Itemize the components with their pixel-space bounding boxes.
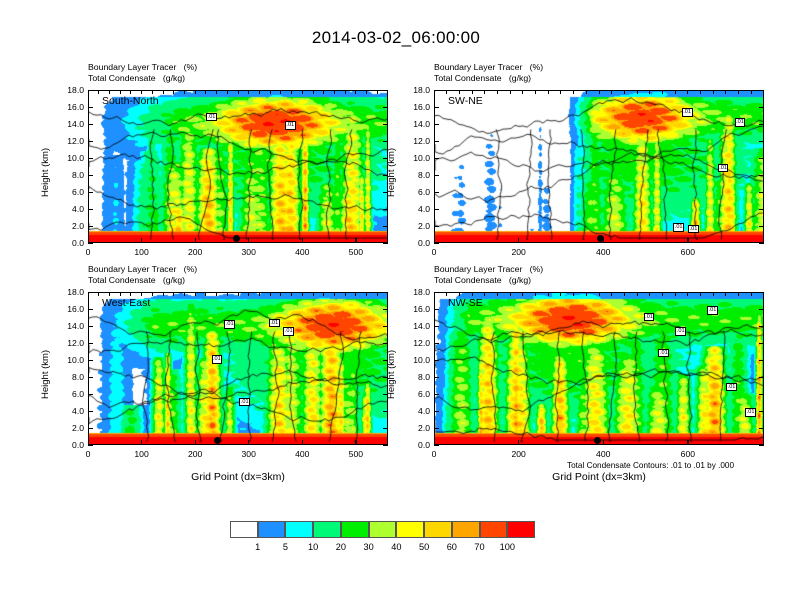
- x-minor-tick: [173, 292, 174, 296]
- y-tick-label: 14.0: [402, 321, 430, 331]
- panel-header-bottom-right: Boundary Layer Tracer (%)Total Condensat…: [434, 264, 543, 286]
- y-tick-mark: [759, 158, 764, 159]
- x-minor-tick: [302, 90, 303, 94]
- y-tick-label: 8.0: [402, 170, 430, 180]
- y-tick-mark: [383, 107, 388, 108]
- contour-label: .01: [735, 118, 746, 127]
- x-minor-tick: [227, 90, 228, 94]
- y-tick-mark: [759, 175, 764, 176]
- contour-label: .01: [718, 164, 729, 173]
- y-tick-mark: [88, 394, 93, 395]
- y-tick-mark: [759, 209, 764, 210]
- y-tick-mark: [383, 326, 388, 327]
- colorbar-cell: [452, 521, 480, 538]
- y-tick-mark: [88, 428, 93, 429]
- contour-label: .01: [283, 327, 294, 336]
- x-minor-tick: [238, 90, 239, 94]
- y-tick-mark: [383, 343, 388, 344]
- header-line-condensate: Total Condensate (g/kg): [434, 275, 543, 286]
- x-minor-tick: [446, 292, 447, 296]
- x-minor-tick: [120, 292, 121, 296]
- header-line-tracer: Boundary Layer Tracer (%): [434, 264, 543, 275]
- plot-area-sw-ne: .01.01.01.01.01: [434, 90, 764, 243]
- y-tick-label: 16.0: [402, 102, 430, 112]
- contour-label: .01: [644, 313, 655, 322]
- x-minor-tick: [291, 90, 292, 94]
- x-minor-tick: [355, 292, 356, 296]
- y-tick-mark: [383, 445, 388, 446]
- header-line-condensate: Total Condensate (g/kg): [88, 275, 197, 286]
- x-axis-label: Grid Point (dx=3km): [88, 471, 388, 483]
- x-minor-tick: [624, 90, 625, 94]
- x-minor-tick: [227, 292, 228, 296]
- y-tick-mark: [759, 107, 764, 108]
- x-tick-label: 0: [416, 449, 452, 459]
- x-minor-tick: [522, 292, 523, 296]
- x-minor-tick: [98, 90, 99, 94]
- x-minor-tick: [259, 292, 260, 296]
- y-tick-mark: [759, 309, 764, 310]
- colorbar-cell: [396, 521, 424, 538]
- y-tick-mark: [88, 360, 93, 361]
- y-tick-mark: [434, 124, 439, 125]
- x-tick-label: 200: [501, 247, 537, 257]
- x-minor-tick: [599, 292, 600, 296]
- x-minor-tick: [662, 90, 663, 94]
- x-minor-tick: [141, 90, 142, 94]
- x-minor-tick: [751, 292, 752, 296]
- x-minor-tick: [560, 90, 561, 94]
- x-minor-tick: [334, 292, 335, 296]
- y-tick-label: 10.0: [56, 153, 84, 163]
- y-tick-mark: [383, 292, 388, 293]
- x-minor-tick: [548, 90, 549, 94]
- y-tick-mark: [383, 124, 388, 125]
- y-tick-label: 8.0: [56, 372, 84, 382]
- contour-label: .01: [745, 408, 756, 417]
- y-tick-mark: [759, 141, 764, 142]
- x-minor-tick: [548, 292, 549, 296]
- y-tick-mark: [434, 394, 439, 395]
- x-tick-mark: [518, 238, 519, 243]
- x-minor-tick: [649, 90, 650, 94]
- y-tick-mark: [434, 90, 439, 91]
- plot-area-west-east: .01.01.01.01.01: [88, 292, 388, 445]
- x-minor-tick: [725, 292, 726, 296]
- y-tick-mark: [759, 343, 764, 344]
- x-tick-label: 400: [284, 247, 320, 257]
- colorbar-cell: [424, 521, 452, 538]
- y-tick-mark: [383, 141, 388, 142]
- y-tick-label: 8.0: [56, 170, 84, 180]
- x-tick-mark: [195, 238, 196, 243]
- x-tick-label: 200: [177, 247, 213, 257]
- x-minor-tick: [510, 292, 511, 296]
- x-tick-label: 400: [585, 449, 621, 459]
- panel-header-bottom-left: Boundary Layer Tracer (%)Total Condensat…: [88, 264, 197, 286]
- contour-field: .01.01.01.01.01: [89, 293, 387, 444]
- x-tick-label: 500: [338, 449, 374, 459]
- x-minor-tick: [675, 90, 676, 94]
- x-tick-mark: [355, 440, 356, 445]
- x-minor-tick: [573, 90, 574, 94]
- y-tick-mark: [383, 428, 388, 429]
- x-axis-label: Grid Point (dx=3km): [434, 471, 764, 483]
- x-minor-tick: [713, 292, 714, 296]
- x-minor-tick: [109, 292, 110, 296]
- y-tick-label: 6.0: [402, 389, 430, 399]
- x-tick-label: 400: [284, 449, 320, 459]
- y-tick-mark: [434, 309, 439, 310]
- x-minor-tick: [238, 292, 239, 296]
- y-tick-label: 6.0: [56, 389, 84, 399]
- y-tick-mark: [759, 445, 764, 446]
- y-tick-mark: [759, 124, 764, 125]
- x-minor-tick: [649, 292, 650, 296]
- x-minor-tick: [725, 90, 726, 94]
- contour-spec-footnote: Total Condensate Contours: .01 to .01 by…: [567, 461, 734, 470]
- contour-field: .01.01.01.01.01: [435, 91, 763, 242]
- y-tick-label: 2.0: [56, 423, 84, 433]
- panel-title-sw-ne: SW-NE: [448, 95, 483, 107]
- y-tick-label: 10.0: [402, 153, 430, 163]
- x-minor-tick: [700, 292, 701, 296]
- x-minor-tick: [355, 90, 356, 94]
- contour-label: .01: [675, 327, 686, 336]
- y-tick-mark: [759, 360, 764, 361]
- x-tick-mark: [355, 238, 356, 243]
- colorbar-cell: [341, 521, 369, 538]
- panel-title-south-north: South-North: [102, 95, 159, 107]
- y-tick-label: 4.0: [402, 406, 430, 416]
- x-minor-tick: [611, 292, 612, 296]
- x-minor-tick: [687, 292, 688, 296]
- y-tick-mark: [88, 377, 93, 378]
- y-tick-label: 2.0: [56, 221, 84, 231]
- y-tick-mark: [759, 326, 764, 327]
- y-tick-mark: [434, 107, 439, 108]
- y-tick-mark: [434, 411, 439, 412]
- y-tick-label: 6.0: [402, 187, 430, 197]
- x-minor-tick: [700, 90, 701, 94]
- contour-label: .01: [726, 383, 737, 392]
- y-tick-mark: [434, 377, 439, 378]
- x-minor-tick: [259, 90, 260, 94]
- y-tick-mark: [88, 243, 93, 244]
- header-line-tracer: Boundary Layer Tracer (%): [88, 264, 197, 275]
- y-tick-label: 6.0: [56, 187, 84, 197]
- x-tick-label: 200: [177, 449, 213, 459]
- y-tick-label: 8.0: [402, 372, 430, 382]
- x-tick-label: 600: [670, 449, 706, 459]
- y-tick-mark: [434, 243, 439, 244]
- colorbar-cell: [480, 521, 508, 538]
- x-minor-tick: [313, 292, 314, 296]
- x-minor-tick: [637, 90, 638, 94]
- x-tick-label: 300: [231, 247, 267, 257]
- y-tick-label: 2.0: [402, 423, 430, 433]
- y-tick-label: 16.0: [402, 304, 430, 314]
- colorbar-cell: [369, 521, 397, 538]
- y-tick-mark: [434, 292, 439, 293]
- colorbar-cell: [285, 521, 313, 538]
- x-minor-tick: [291, 292, 292, 296]
- x-minor-tick: [484, 292, 485, 296]
- panel-header-top-right: Boundary Layer Tracer (%)Total Condensat…: [434, 62, 543, 84]
- contour-field: .01.01: [89, 91, 387, 242]
- y-tick-mark: [88, 445, 93, 446]
- x-minor-tick: [248, 90, 249, 94]
- x-minor-tick: [738, 292, 739, 296]
- y-tick-label: 4.0: [402, 204, 430, 214]
- y-axis-label: Height (km): [40, 349, 51, 398]
- plot-area-south-north: .01.01: [88, 90, 388, 243]
- contour-label: .01: [658, 349, 669, 358]
- x-minor-tick: [205, 90, 206, 94]
- y-tick-mark: [383, 309, 388, 310]
- x-tick-label: 600: [670, 247, 706, 257]
- x-tick-mark: [141, 440, 142, 445]
- station-marker: [233, 235, 240, 242]
- x-minor-tick: [248, 292, 249, 296]
- x-minor-tick: [216, 292, 217, 296]
- x-minor-tick: [586, 90, 587, 94]
- y-tick-mark: [759, 226, 764, 227]
- x-minor-tick: [459, 90, 460, 94]
- x-tick-mark: [518, 440, 519, 445]
- x-minor-tick: [195, 292, 196, 296]
- y-axis-label: Height (km): [40, 147, 51, 196]
- y-tick-mark: [383, 226, 388, 227]
- x-minor-tick: [637, 292, 638, 296]
- x-tick-label: 0: [416, 247, 452, 257]
- y-tick-label: 10.0: [402, 355, 430, 365]
- x-tick-label: 100: [124, 247, 160, 257]
- x-minor-tick: [687, 90, 688, 94]
- x-minor-tick: [535, 90, 536, 94]
- panel-title-nw-se: NW-SE: [448, 297, 483, 309]
- x-minor-tick: [184, 90, 185, 94]
- y-tick-mark: [88, 292, 93, 293]
- y-tick-label: 12.0: [56, 136, 84, 146]
- x-minor-tick: [510, 90, 511, 94]
- x-minor-tick: [446, 90, 447, 94]
- header-line-tracer: Boundary Layer Tracer (%): [88, 62, 197, 73]
- contour-label: .01: [285, 121, 296, 130]
- y-tick-mark: [88, 411, 93, 412]
- x-minor-tick: [130, 90, 131, 94]
- x-minor-tick: [675, 292, 676, 296]
- x-minor-tick: [184, 292, 185, 296]
- y-tick-label: 14.0: [56, 321, 84, 331]
- x-minor-tick: [323, 90, 324, 94]
- y-tick-mark: [434, 428, 439, 429]
- x-minor-tick: [152, 90, 153, 94]
- y-tick-mark: [759, 394, 764, 395]
- x-minor-tick: [497, 292, 498, 296]
- x-minor-tick: [130, 292, 131, 296]
- x-minor-tick: [366, 90, 367, 94]
- y-tick-mark: [88, 309, 93, 310]
- x-minor-tick: [313, 90, 314, 94]
- x-tick-mark: [195, 440, 196, 445]
- y-tick-mark: [759, 411, 764, 412]
- contour-label: .01: [269, 319, 280, 328]
- x-tick-mark: [603, 440, 604, 445]
- y-tick-label: 18.0: [402, 85, 430, 95]
- y-tick-label: 16.0: [56, 102, 84, 112]
- y-tick-mark: [88, 90, 93, 91]
- x-tick-label: 500: [338, 247, 374, 257]
- y-tick-mark: [434, 175, 439, 176]
- contour-label: .01: [707, 306, 718, 315]
- x-minor-tick: [141, 292, 142, 296]
- x-minor-tick: [334, 90, 335, 94]
- x-minor-tick: [216, 90, 217, 94]
- y-tick-mark: [88, 192, 93, 193]
- y-tick-mark: [434, 209, 439, 210]
- y-tick-mark: [434, 192, 439, 193]
- y-tick-label: 16.0: [56, 304, 84, 314]
- colorbar: [230, 521, 535, 538]
- x-minor-tick: [738, 90, 739, 94]
- y-tick-label: 14.0: [402, 119, 430, 129]
- tracer-raster: [89, 91, 387, 242]
- page-title: 2014-03-02_06:00:00: [0, 28, 792, 48]
- x-minor-tick: [195, 90, 196, 94]
- contour-label: .01: [206, 113, 217, 122]
- y-tick-label: 18.0: [56, 287, 84, 297]
- y-tick-mark: [759, 292, 764, 293]
- station-marker: [597, 235, 604, 242]
- x-minor-tick: [366, 292, 367, 296]
- x-tick-mark: [88, 238, 89, 243]
- x-minor-tick: [280, 292, 281, 296]
- contour-field: .01.01.01.01.01.01: [435, 293, 763, 444]
- x-tick-label: 0: [70, 449, 106, 459]
- x-tick-label: 0: [70, 247, 106, 257]
- contour-label: .01: [682, 108, 693, 117]
- tracer-raster: [435, 293, 763, 444]
- y-tick-label: 4.0: [56, 406, 84, 416]
- x-minor-tick: [345, 292, 346, 296]
- y-tick-mark: [88, 343, 93, 344]
- x-tick-label: 400: [585, 247, 621, 257]
- y-tick-mark: [434, 141, 439, 142]
- x-minor-tick: [377, 292, 378, 296]
- y-tick-mark: [759, 243, 764, 244]
- y-tick-label: 18.0: [56, 85, 84, 95]
- x-minor-tick: [560, 292, 561, 296]
- y-axis-label: Height (km): [386, 349, 397, 398]
- colorbar-cell: [230, 521, 258, 538]
- x-minor-tick: [624, 292, 625, 296]
- contour-label: .01: [212, 355, 223, 364]
- x-minor-tick: [109, 90, 110, 94]
- header-line-condensate: Total Condensate (g/kg): [434, 73, 543, 84]
- x-minor-tick: [163, 292, 164, 296]
- y-tick-mark: [383, 209, 388, 210]
- x-minor-tick: [586, 292, 587, 296]
- x-minor-tick: [573, 292, 574, 296]
- colorbar-cell: [507, 521, 535, 538]
- y-tick-mark: [88, 326, 93, 327]
- x-tick-mark: [434, 440, 435, 445]
- y-tick-mark: [759, 90, 764, 91]
- y-tick-label: 14.0: [56, 119, 84, 129]
- y-tick-mark: [88, 226, 93, 227]
- x-minor-tick: [302, 292, 303, 296]
- y-tick-label: 12.0: [402, 136, 430, 146]
- y-tick-mark: [383, 411, 388, 412]
- y-tick-label: 12.0: [56, 338, 84, 348]
- x-tick-mark: [687, 238, 688, 243]
- panel-header-top-left: Boundary Layer Tracer (%)Total Condensat…: [88, 62, 197, 84]
- y-tick-label: 2.0: [402, 221, 430, 231]
- x-tick-mark: [248, 238, 249, 243]
- contour-label: .01: [239, 398, 250, 407]
- x-tick-label: 300: [231, 449, 267, 459]
- x-minor-tick: [459, 292, 460, 296]
- contour-label: .01: [673, 223, 684, 232]
- header-line-condensate: Total Condensate (g/kg): [88, 73, 197, 84]
- contour-label: .01: [688, 225, 699, 234]
- y-tick-mark: [88, 124, 93, 125]
- plot-area-nw-se: .01.01.01.01.01.01: [434, 292, 764, 445]
- y-tick-mark: [88, 175, 93, 176]
- x-minor-tick: [522, 90, 523, 94]
- tracer-raster: [89, 293, 387, 444]
- y-tick-label: 10.0: [56, 355, 84, 365]
- x-minor-tick: [152, 292, 153, 296]
- y-tick-mark: [88, 141, 93, 142]
- x-tick-mark: [302, 238, 303, 243]
- y-tick-mark: [759, 192, 764, 193]
- y-tick-label: 18.0: [402, 287, 430, 297]
- x-tick-mark: [434, 238, 435, 243]
- colorbar-cell: [258, 521, 286, 538]
- y-tick-mark: [434, 226, 439, 227]
- y-tick-label: 12.0: [402, 338, 430, 348]
- y-tick-mark: [434, 158, 439, 159]
- x-minor-tick: [713, 90, 714, 94]
- panel-title-west-east: West-East: [102, 297, 150, 309]
- x-minor-tick: [98, 292, 99, 296]
- x-tick-mark: [141, 238, 142, 243]
- y-tick-mark: [88, 158, 93, 159]
- y-tick-mark: [88, 209, 93, 210]
- x-minor-tick: [163, 90, 164, 94]
- x-minor-tick: [270, 90, 271, 94]
- x-tick-mark: [88, 440, 89, 445]
- y-tick-mark: [434, 445, 439, 446]
- x-minor-tick: [205, 292, 206, 296]
- y-tick-mark: [434, 343, 439, 344]
- x-minor-tick: [472, 90, 473, 94]
- colorbar-tick-label: 100: [491, 542, 523, 552]
- y-tick-mark: [434, 326, 439, 327]
- contour-label: .01: [224, 320, 235, 329]
- y-tick-mark: [434, 360, 439, 361]
- x-tick-mark: [248, 440, 249, 445]
- tracer-raster: [435, 91, 763, 242]
- x-minor-tick: [599, 90, 600, 94]
- x-minor-tick: [280, 90, 281, 94]
- x-minor-tick: [270, 292, 271, 296]
- y-tick-mark: [383, 90, 388, 91]
- y-tick-mark: [383, 243, 388, 244]
- x-minor-tick: [484, 90, 485, 94]
